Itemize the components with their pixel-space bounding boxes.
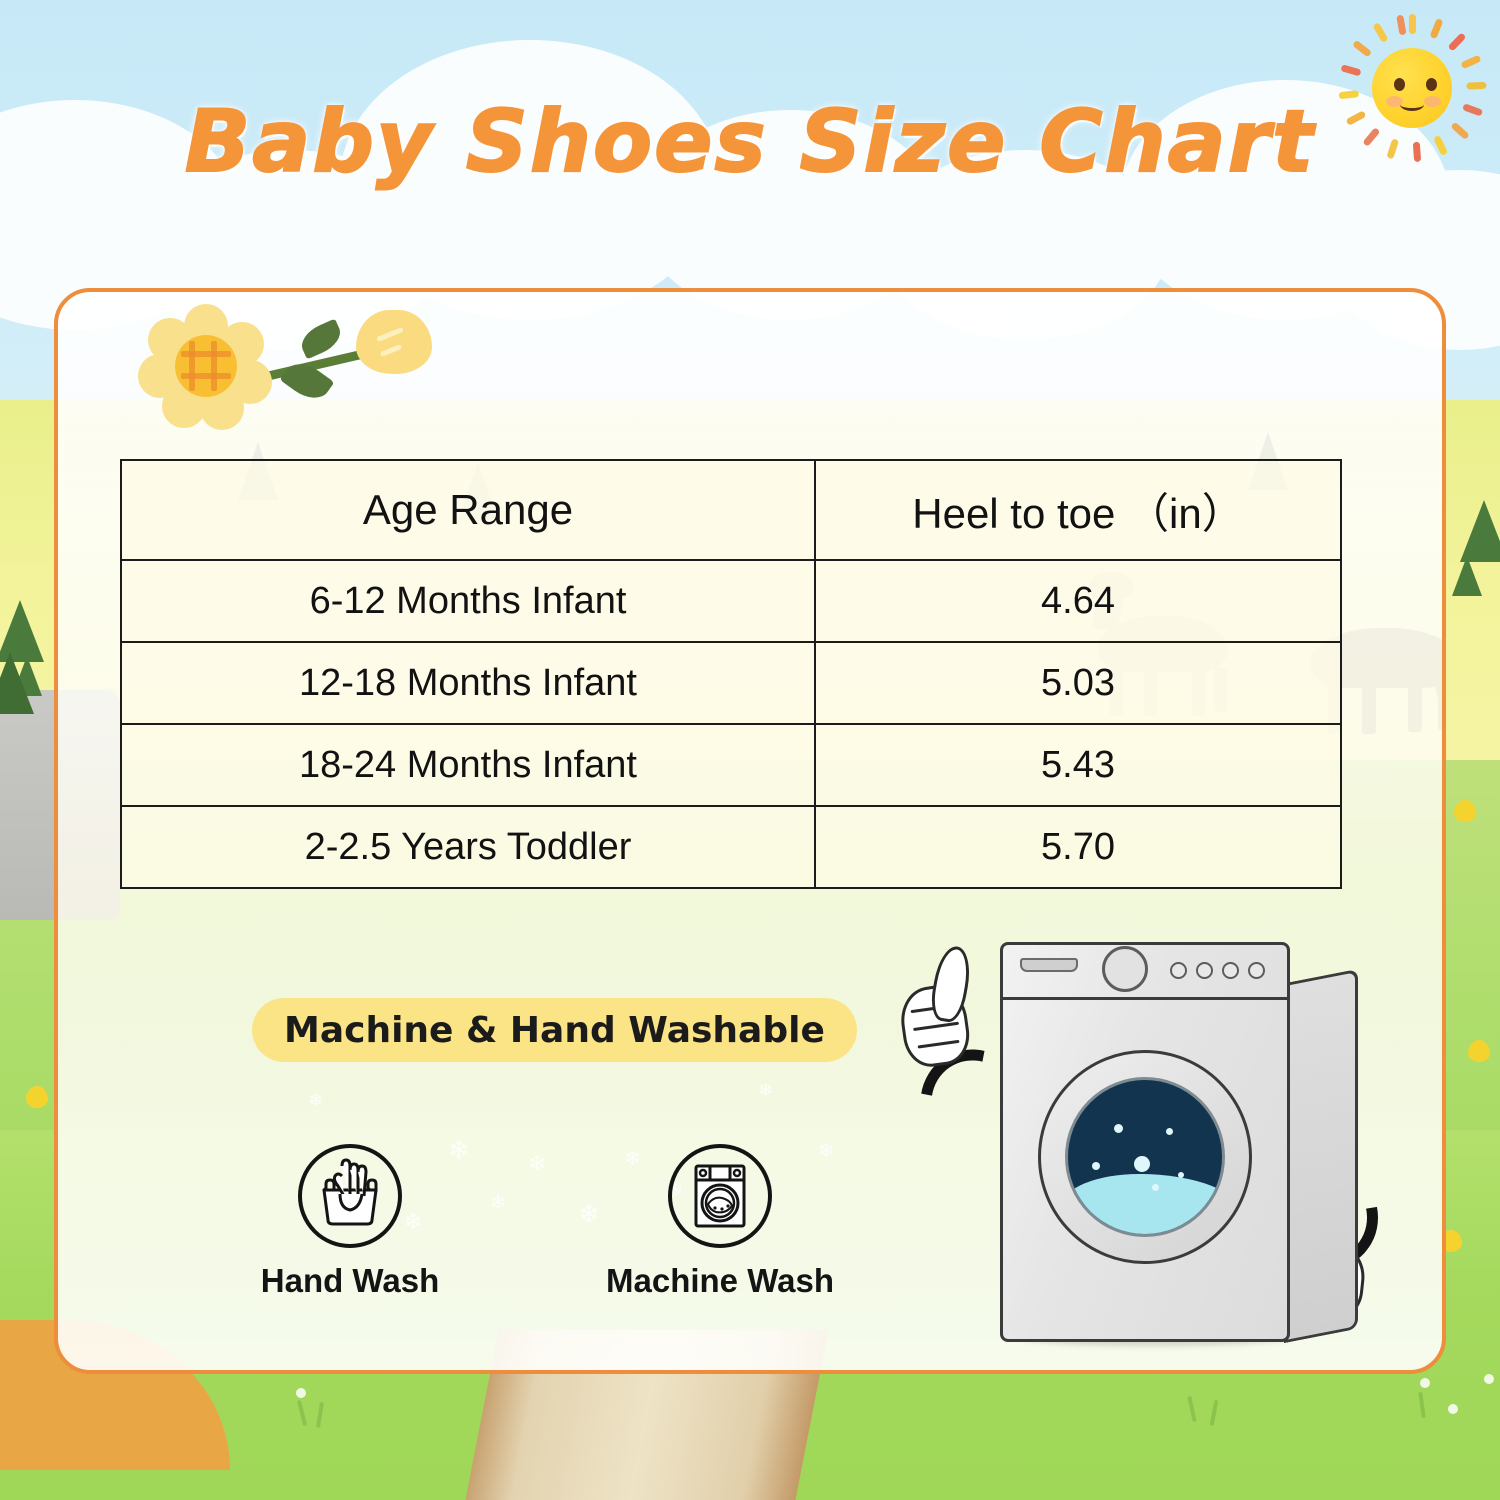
sparkle-icon: ❄ <box>490 1192 507 1212</box>
table-row: 2-2.5 Years Toddler 5.70 <box>121 806 1341 888</box>
sparkle-icon: ❄ <box>758 1082 773 1100</box>
mascot-thumb <box>928 944 975 1025</box>
poster-canvas: Baby Shoes Size Chart ❄ ❄ ❄ ❄ ❄ <box>0 0 1500 1500</box>
washer-drum <box>1065 1077 1225 1237</box>
cell-age-range: 12-18 Months Infant <box>121 642 815 724</box>
size-chart-table: Age Range Heel to toe （in） 6-12 Months I… <box>120 459 1342 889</box>
control-button-icon <box>1196 962 1213 979</box>
detergent-drawer-icon <box>1020 958 1078 972</box>
control-button-icon <box>1248 962 1265 979</box>
cell-age-range: 6-12 Months Infant <box>121 560 815 642</box>
cell-heel-to-toe: 5.03 <box>815 642 1341 724</box>
cell-age-range: 2-2.5 Years Toddler <box>121 806 815 888</box>
washable-badge-label: Machine & Hand Washable <box>284 1010 825 1051</box>
sparkle-icon: ❄ <box>308 1092 323 1110</box>
white-blossom-icon <box>1448 1404 1458 1414</box>
cell-heel-to-toe: 5.43 <box>815 724 1341 806</box>
pine-tree-icon <box>1452 556 1482 596</box>
machine-wash-label: Machine Wash <box>590 1262 850 1300</box>
column-header-heel-to-toe: Heel to toe （in） <box>815 460 1341 560</box>
sparkle-icon: ❄ <box>528 1154 546 1176</box>
hand-wash-item: Hand Wash <box>220 1144 480 1300</box>
white-blossom-icon <box>1484 1374 1494 1384</box>
hand-wash-icon <box>298 1144 402 1248</box>
machine-wash-icon <box>668 1144 772 1248</box>
daisy-center-icon <box>175 335 237 397</box>
washable-badge: Machine & Hand Washable <box>252 998 857 1062</box>
washer-door <box>1038 1050 1252 1264</box>
program-dial-icon <box>1102 946 1148 992</box>
white-blossom-icon <box>296 1388 306 1398</box>
table-row: 18-24 Months Infant 5.43 <box>121 724 1341 806</box>
cell-heel-to-toe: 5.70 <box>815 806 1341 888</box>
cell-heel-to-toe: 4.64 <box>815 560 1341 642</box>
yellow-flower-icon <box>1454 800 1476 822</box>
cell-age-range: 18-24 Months Infant <box>121 724 815 806</box>
white-blossom-icon <box>1420 1378 1430 1388</box>
control-button-icon <box>1222 962 1239 979</box>
pine-tree-icon <box>1460 500 1500 562</box>
washing-machine-mascot <box>880 920 1380 1370</box>
flower-decoration <box>134 304 454 424</box>
table-header-row: Age Range Heel to toe （in） <box>121 460 1341 560</box>
yellow-flower-icon <box>1468 1040 1490 1062</box>
machine-wash-item: Machine Wash <box>590 1144 850 1300</box>
water-fill <box>1065 1174 1225 1237</box>
table-row: 12-18 Months Infant 5.03 <box>121 642 1341 724</box>
tulip-icon <box>356 310 432 374</box>
table-row: 6-12 Months Infant 4.64 <box>121 560 1341 642</box>
pine-tree-icon <box>0 652 34 714</box>
column-header-age-range: Age Range <box>121 460 815 560</box>
hand-wash-label: Hand Wash <box>220 1262 480 1300</box>
page-title: Baby Shoes Size Chart <box>0 92 1500 192</box>
yellow-flower-icon <box>26 1086 48 1108</box>
control-button-icon <box>1170 962 1187 979</box>
